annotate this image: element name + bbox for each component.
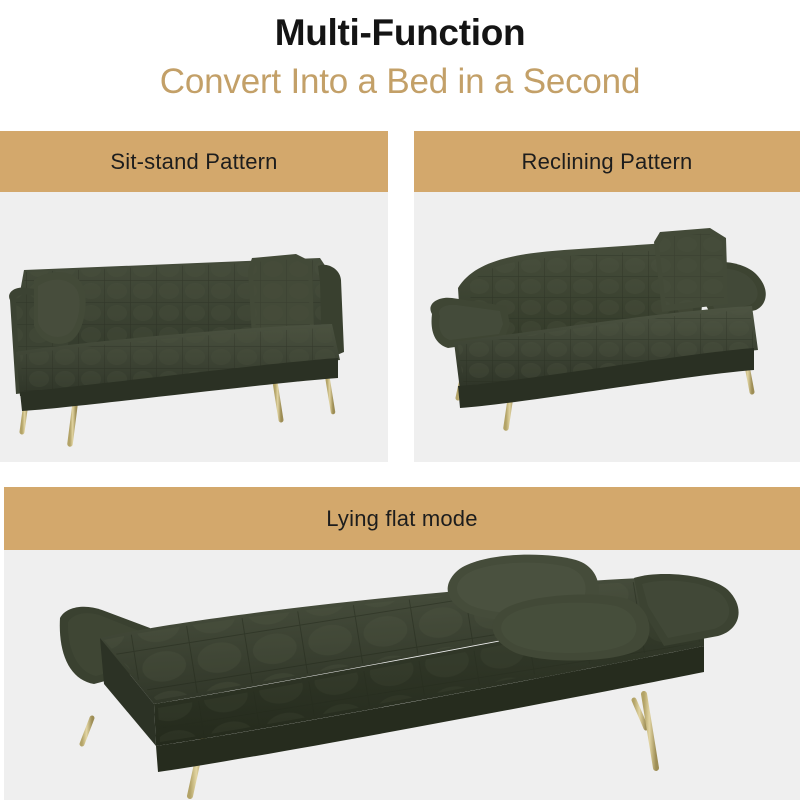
panel-lying-flat-photo: [4, 550, 800, 800]
sofa-bed-illustration: [4, 550, 800, 800]
panel-lying-flat-band: Lying flat mode: [4, 487, 800, 550]
panel-sit-stand: Sit-stand Pattern: [0, 131, 388, 462]
panel-reclining-band: Reclining Pattern: [414, 131, 800, 192]
panel-sit-stand-band: Sit-stand Pattern: [0, 131, 388, 192]
page-subtitle: Convert Into a Bed in a Second: [0, 60, 800, 104]
header: Multi-Function Convert Into a Bed in a S…: [0, 0, 800, 128]
panel-reclining: Reclining Pattern: [414, 131, 800, 462]
panel-lying-flat-label: Lying flat mode: [326, 506, 477, 532]
panel-reclining-photo: [414, 192, 800, 462]
panel-sit-stand-label: Sit-stand Pattern: [110, 149, 277, 175]
panel-lying-flat: Lying flat mode: [4, 487, 800, 800]
sofa-sit-stand-illustration: [0, 192, 388, 462]
panel-sit-stand-photo: [0, 192, 388, 462]
infographic-page: Multi-Function Convert Into a Bed in a S…: [0, 0, 800, 800]
page-title: Multi-Function: [0, 11, 800, 55]
panel-reclining-label: Reclining Pattern: [522, 149, 693, 175]
sofa-reclining-illustration: [414, 192, 800, 462]
